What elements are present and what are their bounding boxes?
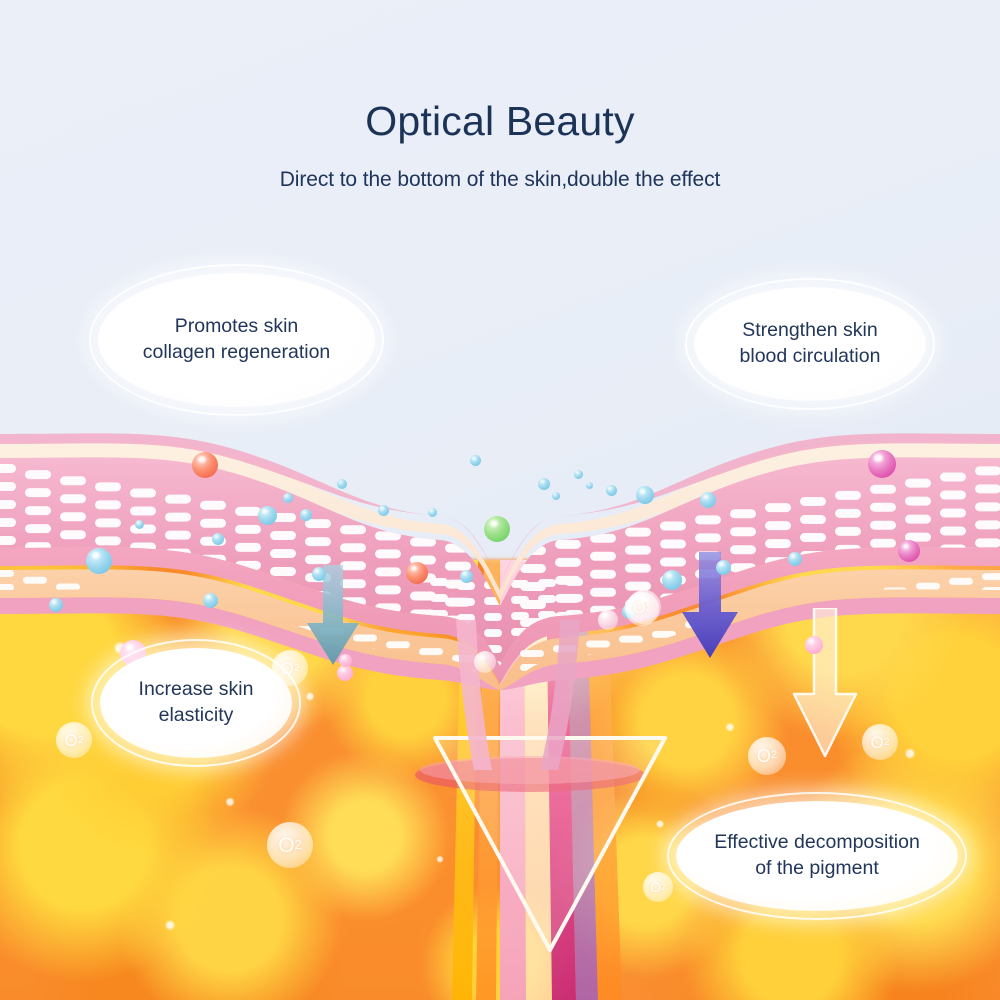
callout-line-1: Promotes skin (175, 315, 299, 337)
illustration-canvas: O2 O2 O2 O2 O2 O2 O2 Optical Beauty Dire… (0, 0, 1000, 1000)
particle-red (192, 452, 218, 478)
o2-letter: O (633, 601, 645, 617)
o2-superscript: 2 (771, 750, 777, 761)
particle-magenta (898, 540, 920, 562)
callout-line-1: Strengthen skin (742, 319, 878, 341)
o2-superscript: 2 (645, 604, 651, 614)
particle-blue (258, 506, 277, 525)
penetration-arrow-white-icon (790, 608, 860, 758)
particle-red (406, 562, 428, 584)
particle-blue (460, 570, 473, 583)
particle-blue (337, 479, 347, 489)
particle-blue (378, 505, 389, 516)
particle-pink (339, 654, 352, 667)
o2-superscript: 2 (295, 838, 302, 851)
o2-letter: O (278, 835, 294, 856)
o2-molecule-bubble: O2 (56, 722, 92, 758)
o2-letter: O (757, 747, 771, 765)
o2-superscript: 2 (294, 663, 300, 674)
particle-pink (805, 636, 823, 654)
o2-letter: O (870, 734, 883, 751)
callout-line-2: elasticity (159, 704, 234, 726)
particle-blue (586, 482, 593, 489)
particle-pink (337, 665, 353, 681)
callout-text: Effective decomposition of the pigment (702, 830, 932, 881)
particle-blue (538, 478, 550, 490)
particle-blue (716, 560, 731, 575)
o2-letter: O (280, 660, 293, 677)
callout-line-2: of the pigment (755, 857, 879, 879)
o2-molecule-bubble: O2 (267, 822, 313, 868)
o2-molecule-bubble: O2 (862, 724, 898, 760)
particle-blue (212, 533, 224, 545)
callout-text: Promotes skin collagen regeneration (131, 314, 343, 365)
o2-molecule-bubble: O2 (748, 737, 786, 775)
particle-blue (470, 455, 481, 466)
callout-decomposition-pigment: Effective decomposition of the pigment (676, 801, 958, 911)
particle-blue (86, 548, 112, 574)
particle-blue (636, 486, 654, 504)
callout-promotes-collagen: Promotes skin collagen regeneration (98, 273, 375, 407)
particle-green (484, 516, 510, 542)
callout-line-1: Effective decomposition (714, 831, 920, 853)
particle-blue (574, 470, 583, 479)
particle-blue (552, 492, 560, 500)
callout-line-2: collagen regeneration (143, 341, 331, 363)
particle-blue (788, 552, 802, 566)
callout-strengthen-circulation: Strengthen skin blood circulation (694, 287, 926, 401)
o2-superscript: 2 (78, 735, 84, 746)
o2-superscript: 2 (884, 737, 890, 748)
particle-blue (283, 493, 293, 503)
callout-line-2: blood circulation (740, 345, 881, 367)
o2-letter: O (650, 880, 661, 894)
o2-molecule-bubble: O2 (643, 872, 673, 902)
o2-superscript: 2 (661, 883, 666, 892)
penetration-arrow-purple-icon (680, 552, 740, 658)
particle-blue (428, 508, 437, 517)
page-title: Optical Beauty (0, 100, 1000, 143)
callout-text: Strengthen skin blood circulation (728, 318, 893, 369)
particle-magenta (868, 450, 896, 478)
callout-text: Increase skin elasticity (127, 677, 266, 728)
particle-white (598, 610, 618, 630)
o2-molecule-bubble: O2 (625, 592, 659, 626)
callout-line-1: Increase skin (139, 678, 254, 700)
penetration-arrow-teal-icon (305, 565, 361, 665)
particle-blue (300, 509, 312, 521)
particle-blue (49, 598, 63, 612)
particle-blue (662, 570, 682, 590)
particle-blue (203, 593, 218, 608)
callout-increase-elasticity: Increase skin elasticity (100, 648, 292, 758)
page-subtitle: Direct to the bottom of the skin,double … (0, 168, 1000, 192)
o2-letter: O (64, 732, 77, 749)
particle-white (474, 651, 496, 673)
particle-blue (606, 485, 617, 496)
particle-blue (700, 492, 716, 508)
particle-blue (135, 520, 144, 529)
particle-blue (312, 567, 326, 581)
pore-wall (430, 620, 610, 770)
